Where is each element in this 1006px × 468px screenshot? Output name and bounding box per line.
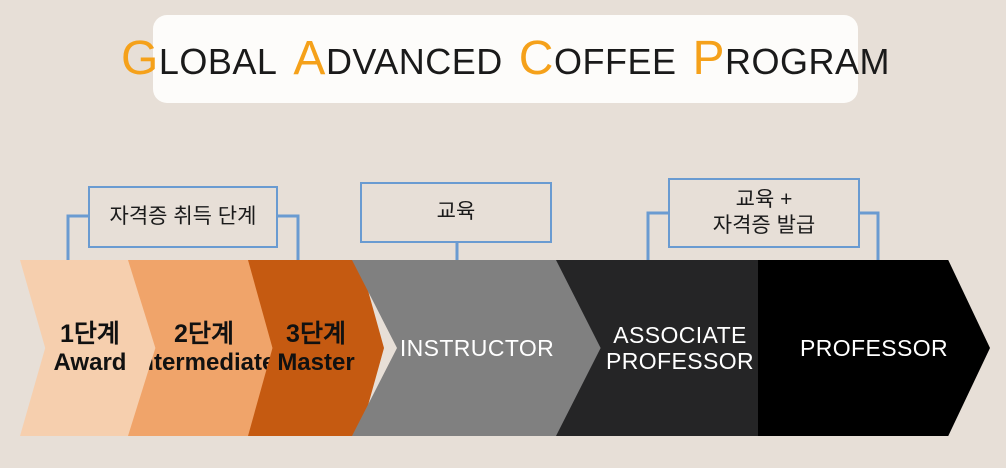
arrow-stage-3-en: Master xyxy=(277,349,354,376)
callout-education-text: 교육 xyxy=(437,199,476,225)
arrow-instructor-line1: INSTRUCTOR xyxy=(400,335,554,361)
title-word-program: PROGRAM xyxy=(692,40,890,83)
connector-eduiss-right xyxy=(860,213,878,260)
title-word-coffee: COFFEE xyxy=(519,40,677,83)
arrow-stage-3-ko: 3단계 xyxy=(277,320,354,349)
title-word-advanced: ADVANCED xyxy=(293,40,502,83)
title-rest-program: ROGRAM xyxy=(725,41,890,82)
diagram-canvas: GLOBALADVANCEDCOFFEEPROGRAM 자격증 취득 단계 교육… xyxy=(0,0,1006,468)
callout-education-issuance: 교육 + 자격증 발급 xyxy=(668,178,860,248)
arrow-associate-professor-label: ASSOCIATE PROFESSOR xyxy=(606,322,754,374)
callout-education: 교육 xyxy=(360,182,552,243)
title-rest-global: LOBAL xyxy=(159,41,278,82)
arrow-stage-1-label: 1단계 Award xyxy=(54,320,127,376)
page-title: GLOBALADVANCEDCOFFEEPROGRAM xyxy=(121,35,890,83)
callout-education-issuance-line1: 교육 + xyxy=(713,187,815,213)
arrow-professor-line1: PROFESSOR xyxy=(800,335,948,361)
callout-education-issuance-block: 교육 + 자격증 발급 xyxy=(713,187,815,240)
title-cap-g: G xyxy=(121,32,159,85)
title-card: GLOBALADVANCEDCOFFEEPROGRAM xyxy=(153,15,858,103)
arrow-instructor-label: INSTRUCTOR xyxy=(400,335,554,361)
callout-certification-stage-text: 자격증 취득 단계 xyxy=(110,204,257,230)
arrow-instructor[interactable]: INSTRUCTOR xyxy=(352,260,602,436)
arrow-associate-professor-line1: ASSOCIATE xyxy=(606,322,754,348)
title-cap-a: A xyxy=(293,32,326,85)
title-word-global: GLOBAL xyxy=(121,40,277,83)
connector-cert-right xyxy=(278,216,298,260)
connector-eduiss-left xyxy=(648,213,668,260)
connector-cert-left xyxy=(68,216,88,260)
arrow-stage-1-en: Award xyxy=(54,349,127,376)
title-rest-advanced: DVANCED xyxy=(326,41,503,82)
arrow-associate-professor-line2: PROFESSOR xyxy=(606,348,754,374)
title-cap-p: P xyxy=(692,32,725,85)
callout-education-issuance-line2: 자격증 발급 xyxy=(713,213,815,239)
arrow-professor[interactable]: PROFESSOR xyxy=(758,260,990,436)
arrow-stage-1-ko: 1단계 xyxy=(54,320,127,349)
arrow-stage-3-label: 3단계 Master xyxy=(277,320,354,376)
arrow-professor-label: PROFESSOR xyxy=(800,335,948,361)
title-cap-c: C xyxy=(519,32,554,85)
title-rest-coffee: OFFEE xyxy=(554,41,677,82)
callout-certification-stage: 자격증 취득 단계 xyxy=(88,186,278,248)
arrow-stage-2-en: Intermediate xyxy=(133,349,276,376)
